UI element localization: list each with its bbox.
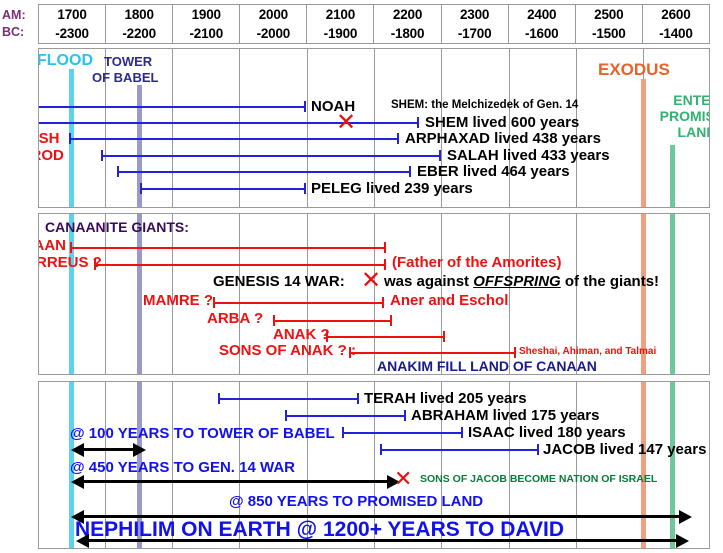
bar-cap	[140, 183, 142, 194]
enter-land-marker-line	[670, 382, 675, 548]
axis-bc-value: -2200	[122, 24, 156, 43]
enter-label-line3: LAND	[647, 125, 710, 139]
axis-label-bc: BC:	[2, 25, 24, 39]
bar-cap	[117, 166, 119, 177]
lifespan-bar-peleg	[141, 188, 306, 190]
lifespan-bar-arphaxad	[70, 138, 399, 140]
gridline	[509, 214, 510, 374]
lifespan-label-arba: ARBA ?	[207, 311, 263, 326]
annotation-450-years-arrow	[82, 480, 393, 483]
bar-cap	[390, 315, 392, 326]
bar-cap	[69, 133, 71, 144]
axis-am-value: 2000	[259, 5, 288, 24]
gridline	[374, 214, 375, 374]
gen14-war-x-icon: ✕	[361, 269, 381, 293]
axis-column: 2200-1800	[374, 5, 441, 43]
bar-cap	[349, 347, 351, 358]
gen14-suffix: of the giants!	[561, 273, 659, 290]
lifespan-label-peleg: PELEG lived 239 years	[311, 181, 473, 196]
flood-marker-line	[69, 214, 74, 374]
anakim-fill-land-label: ANAKIM FILL LAND OF CANAAN	[377, 359, 597, 373]
bar-cap	[70, 242, 72, 253]
axis-bc-value: -1800	[391, 24, 425, 43]
bar-cap	[514, 347, 516, 358]
canaanite-giants-heading: CANAANITE GIANTS:	[45, 220, 189, 234]
annotation-100-years-arrow	[82, 448, 140, 451]
timeline-chart: AM: BC: 1700-2300 1800-2200 1900-2100 20…	[0, 0, 723, 553]
lifespan-label-terah: TERAH lived 205 years	[364, 391, 527, 406]
bar-cap	[461, 427, 463, 438]
axis-am-value: 1800	[125, 5, 154, 24]
lifespan-label-isaac: ISAAC lived 180 years	[468, 425, 626, 440]
lifespan-bar-abraham	[286, 415, 406, 417]
axis-bc-value: -1900	[324, 24, 358, 43]
lifespan-bar-jacob	[381, 449, 539, 451]
bar-cap	[384, 242, 386, 253]
enter-land-marker-line	[670, 145, 675, 207]
bar-cap	[101, 150, 103, 161]
babel-marker-line	[137, 214, 142, 374]
gridline	[307, 49, 308, 207]
bar-cap	[443, 331, 445, 342]
annotation-100-years-label: @ 100 YEARS TO TOWER OF BABEL	[70, 426, 335, 441]
gridline	[105, 214, 106, 374]
axis-am-value: 2200	[393, 5, 422, 24]
bar-cap	[380, 444, 382, 455]
lifespan-label-cush: CUSH	[38, 131, 60, 146]
lifespan-label-shem: SHEM lived 600 years	[425, 115, 579, 130]
lifespan-bar-arba	[274, 320, 392, 322]
shem-melchizedek-note: SHEM: the Melchizedek of Gen. 14	[391, 100, 578, 112]
lifespan-label-salah: SALAH lived 433 years	[447, 148, 610, 163]
axis-am-value: 2500	[594, 5, 623, 24]
lifespan-bar-terah	[219, 398, 359, 400]
axis-column: 2100-1900	[307, 5, 374, 43]
bar-cap	[417, 117, 419, 128]
axis-header-table: 1700-2300 1800-2200 1900-2100 2000-2000 …	[38, 4, 710, 44]
bar-cap	[404, 410, 406, 421]
arrow-head-right	[676, 534, 689, 548]
tower-label-line2: OF BABEL	[92, 71, 158, 84]
lifespan-label-sons-of-anak: SONS OF ANAK ? :	[219, 343, 356, 358]
bar-cap	[273, 315, 275, 326]
axis-column: 2600-1400	[643, 5, 709, 43]
axis-am-value: 2400	[527, 5, 556, 24]
bar-cap	[439, 150, 441, 161]
lifespan-bar-amorreus	[95, 264, 386, 266]
panel-patriarchs: FLOOD TOWER OF BABEL EXODUS ENTER PROMIS…	[38, 48, 710, 208]
enter-label-line1: ENTER	[647, 93, 710, 107]
gen14-mid: was against	[384, 273, 473, 290]
enter-land-marker-line	[670, 214, 675, 374]
lifespan-label-eber: EBER lived 464 years	[417, 164, 570, 179]
lifespan-label-amorreus: AMORREUS ?	[38, 255, 102, 270]
gridline	[172, 49, 173, 207]
gen14-war-sentence: was against OFFSPRING of the giants!	[384, 274, 659, 289]
axis-bc-value: -1600	[525, 24, 559, 43]
lifespan-bar-noah	[38, 106, 306, 108]
axis-bc-value: -1700	[458, 24, 492, 43]
bar-cap	[213, 297, 215, 308]
lifespan-label-arphaxad: ARPHAXAD lived 438 years	[405, 131, 601, 146]
axis-column: 2500-1500	[576, 5, 643, 43]
father-of-amorites-note: (Father of the Amorites)	[392, 255, 561, 270]
bar-cap	[304, 101, 306, 112]
gen14-war-x-icon: ✕	[336, 111, 356, 135]
bar-cap	[218, 393, 220, 404]
axis-bc-value: -2300	[55, 24, 89, 43]
axis-bc-value: -1500	[592, 24, 626, 43]
lifespan-bar-eber	[118, 171, 411, 173]
arrow-head-left	[71, 475, 84, 489]
sons-of-jacob-nation-label: SONS OF JACOB BECOME NATION OF ISRAEL	[420, 474, 657, 485]
annotation-850-years-label: @ 850 YEARS TO PROMISED LAND	[229, 494, 483, 509]
axis-label-am: AM:	[2, 8, 26, 22]
gridline	[239, 49, 240, 207]
bar-cap	[94, 259, 96, 270]
lifespan-bar-anak	[327, 336, 445, 338]
arrow-head-left	[76, 534, 89, 548]
lifespan-bar-sons-of-anak	[350, 352, 516, 354]
gen14-offspring: OFFSPRING	[473, 273, 561, 290]
lifespan-bar-shem	[38, 122, 419, 124]
axis-bc-value: -2000	[257, 24, 291, 43]
axis-column: 1700-2300	[39, 5, 106, 43]
axis-am-value: 2100	[326, 5, 355, 24]
exodus-marker-line	[641, 382, 646, 548]
exodus-label: EXODUS	[598, 61, 670, 78]
lifespan-label-abraham: ABRAHAM lived 175 years	[411, 408, 599, 423]
axis-am-value: 2600	[661, 5, 690, 24]
enter-label-line2: PROMISED	[637, 109, 710, 123]
axis-column: 2400-1600	[509, 5, 576, 43]
bar-cap	[342, 427, 344, 438]
panel-fathers-and-spans: TERAH lived 205 years ABRAHAM lived 175 …	[38, 381, 710, 549]
lifespan-bar-mamre	[214, 302, 384, 304]
bar-cap	[409, 166, 411, 177]
bar-cap	[384, 259, 386, 270]
aner-eschol-label: Aner and Eschol	[390, 293, 508, 308]
axis-am-value: 2300	[460, 5, 489, 24]
gen14-war-prefix: GENESIS 14 WAR:	[213, 274, 345, 289]
lifespan-label-jacob: JACOB lived 147 years	[543, 442, 706, 457]
axis-am-value: 1900	[192, 5, 221, 24]
flood-label: FLOOD	[38, 53, 93, 69]
axis-column: 1800-2200	[106, 5, 173, 43]
bar-cap	[382, 297, 384, 308]
arrow-head-right	[133, 443, 146, 457]
bar-cap	[537, 444, 539, 455]
bar-cap	[285, 410, 287, 421]
arrow-head-left	[71, 443, 84, 457]
lifespan-bar-isaac	[343, 432, 463, 434]
axis-am-value: 1700	[57, 5, 86, 24]
gen14-war-x-icon: ✕	[394, 468, 412, 490]
tower-label-line1: TOWER	[104, 55, 152, 68]
axis-column: 2000-2000	[240, 5, 307, 43]
lifespan-label-mamre: MAMRE ?	[143, 293, 213, 308]
sheshai-ahiman-talmai-label: Sheshai, Ahiman, and Talmai	[519, 347, 656, 357]
axis-bc-value: -1400	[659, 24, 693, 43]
nephilim-span-arrow	[88, 539, 680, 542]
exodus-marker-line	[641, 79, 646, 207]
bar-cap	[397, 133, 399, 144]
annotation-nephilim-label: NEPHILIM ON EARTH @ 1200+ YEARS TO DAVID	[75, 519, 564, 540]
lifespan-bar-canaan	[71, 247, 386, 249]
axis-bc-value: -2100	[189, 24, 223, 43]
lifespan-bar-salah	[102, 155, 441, 157]
lifespan-label-anak: ANAK ?	[273, 327, 330, 342]
annotation-450-years-label: @ 450 YEARS TO GEN. 14 WAR	[70, 460, 295, 475]
bar-cap	[304, 183, 306, 194]
panel-canaanite-giants: CANAANITE GIANTS: CANAAN AMORREUS ? (Fat…	[38, 213, 710, 375]
arrow-head-right	[679, 510, 692, 524]
axis-column: 2300-1700	[442, 5, 509, 43]
axis-column: 1900-2100	[173, 5, 240, 43]
bar-cap	[357, 393, 359, 404]
lifespan-label-nimrod: NIMROD	[38, 148, 64, 163]
bar-cap	[326, 331, 328, 342]
lifespan-label-canaan: CANAAN	[38, 238, 66, 253]
